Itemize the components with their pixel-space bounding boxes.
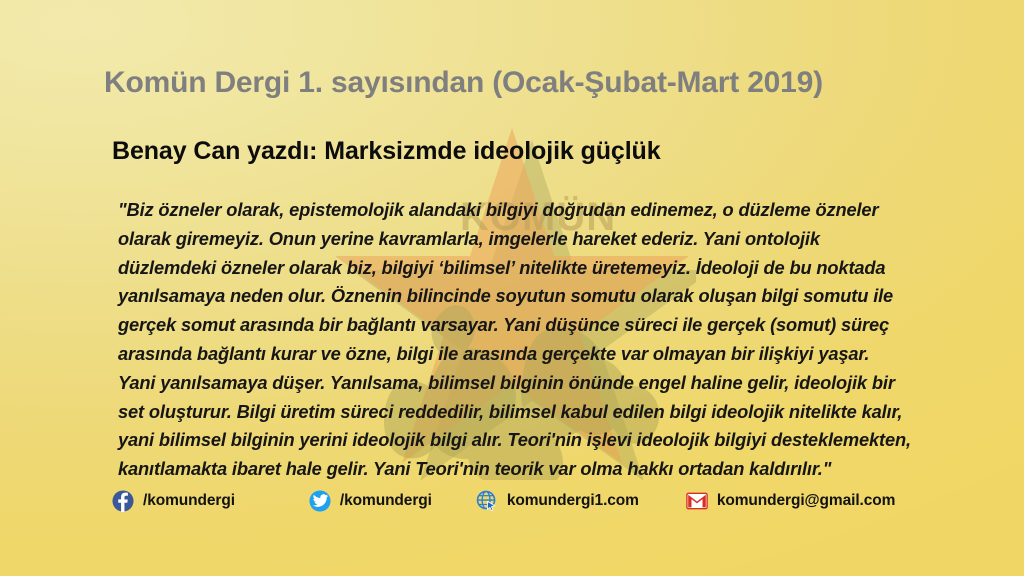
quote-line: yani bilimsel bilginin yerini ideolojik …: [118, 426, 900, 455]
article-heading: Benay Can yazdı: Marksizmde ideolojik gü…: [112, 137, 661, 166]
quote-line: olarak giremeyiz. Onun yerine kavramlarl…: [118, 225, 900, 254]
globe-icon: [476, 490, 498, 512]
quote-line: "Biz özneler olarak, epistemolojik aland…: [118, 196, 900, 225]
page-title: Komün Dergi 1. sayısından (Ocak-Şubat-Ma…: [104, 66, 823, 100]
contact-website[interactable]: komundergi1.com: [476, 487, 639, 515]
gmail-icon: [686, 490, 708, 512]
quote-line: gerçek somut arasında bir bağlantı varsa…: [118, 311, 900, 340]
contact-email[interactable]: komundergi@gmail.com: [686, 487, 895, 515]
twitter-icon: [309, 490, 331, 512]
footer-contact-bar: /komundergi /komundergi komundergi1.com: [112, 487, 895, 515]
facebook-handle: /komundergi: [143, 492, 235, 510]
website-url: komundergi1.com: [507, 492, 639, 510]
contact-facebook[interactable]: /komundergi: [112, 487, 235, 515]
contact-twitter[interactable]: /komundergi: [309, 487, 432, 515]
quote-body: "Biz özneler olarak, epistemolojik aland…: [118, 196, 900, 484]
presentation-slide: KOMÜN Komün Dergi 1. sayısından (Ocak-Şu…: [0, 0, 1024, 576]
quote-line: arasında bağlantı kurar ve özne, bilgi i…: [118, 340, 900, 369]
quote-line: kanıtlamakta ibaret hale gelir. Yani Teo…: [118, 455, 900, 484]
quote-line: yanılsamaya neden olur. Öznenin bilincin…: [118, 282, 900, 311]
email-address: komundergi@gmail.com: [717, 492, 895, 510]
facebook-icon: [112, 490, 134, 512]
quote-line: set oluşturur. Bilgi üretim süreci redde…: [118, 398, 900, 427]
twitter-handle: /komundergi: [340, 492, 432, 510]
quote-line: Yani yanılsamaya düşer. Yanılsama, bilim…: [118, 369, 900, 398]
quote-line: düzlemdeki özneler olarak biz, bilgiyi ‘…: [118, 254, 900, 283]
